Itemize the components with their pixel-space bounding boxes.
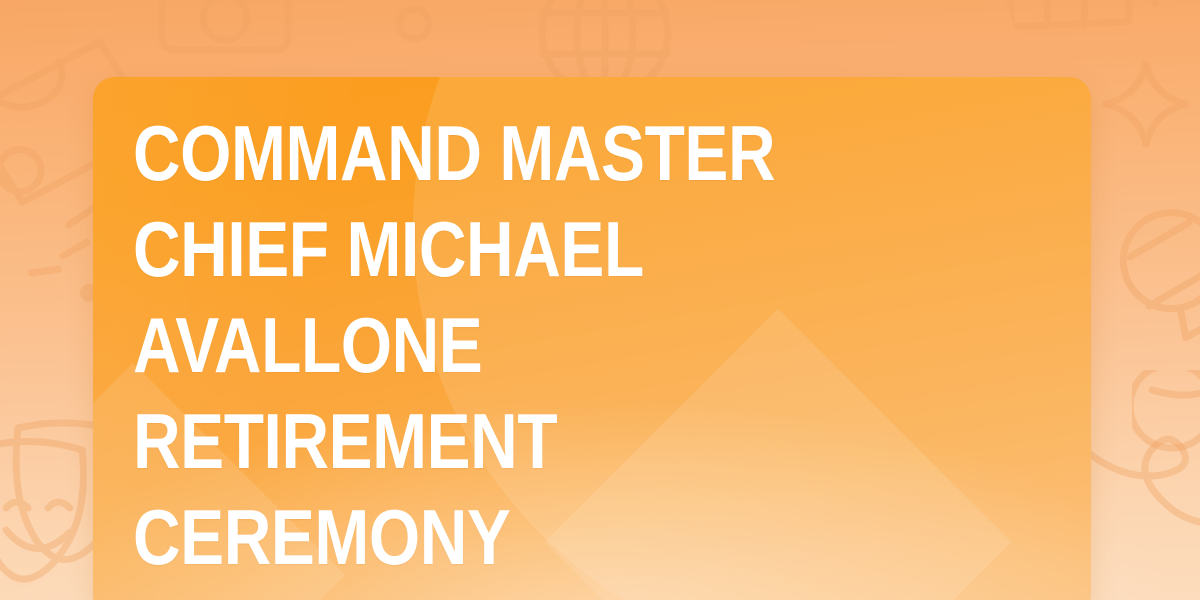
swirl-line-icon: [1080, 398, 1200, 598]
card-content: Command Master Chief Michael Avallone Re…: [133, 105, 1043, 600]
swirl-line-small-icon: [1132, 370, 1200, 480]
dash-mark-icon: [27, 262, 63, 281]
event-title: Command Master Chief Michael Avallone Re…: [133, 105, 902, 585]
event-card[interactable]: Command Master Chief Michael Avallone Re…: [93, 77, 1091, 600]
confetti-icon: [388, 0, 440, 46]
camera-icon: [150, 0, 300, 64]
sparkle-icon: [1098, 56, 1194, 152]
film-slate-icon: [999, 0, 1195, 89]
microphone-icon: [1087, 172, 1200, 389]
dash-mark-icon: [57, 234, 93, 263]
event-banner: Command Master Chief Michael Avallone Re…: [0, 0, 1200, 600]
